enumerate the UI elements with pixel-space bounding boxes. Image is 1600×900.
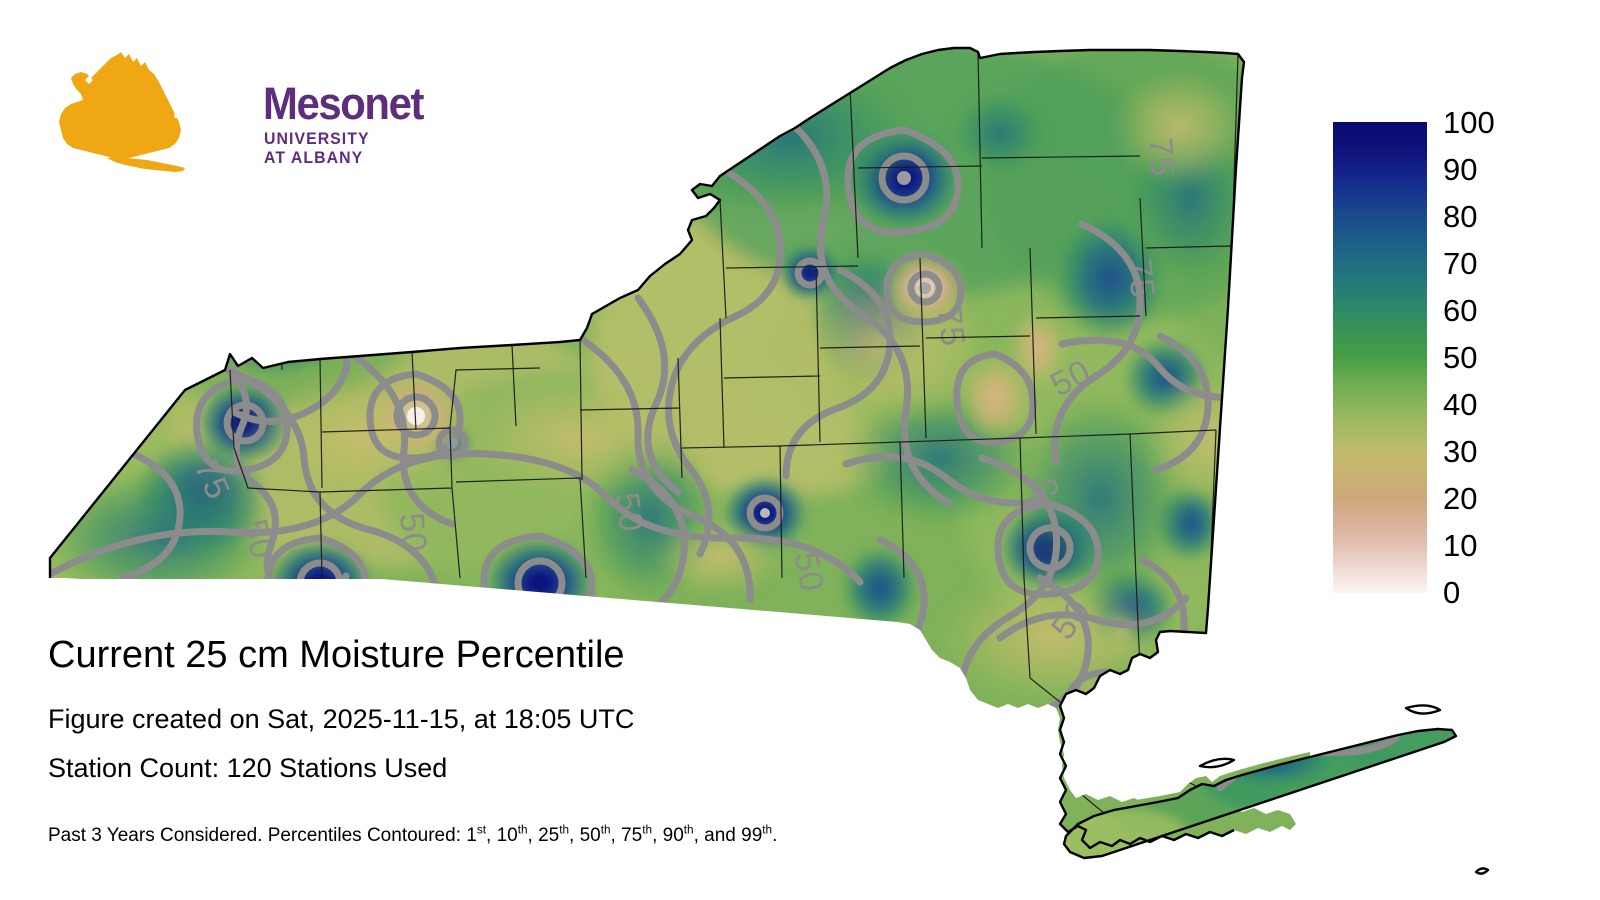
logo-university-text: UNIVERSITY AT ALBANY (264, 130, 395, 168)
footnote-value-99: 99 (741, 825, 762, 846)
colorbar-tick-10: 10 (1443, 530, 1477, 561)
svg-text:50: 50 (392, 511, 434, 555)
logo-divider (254, 78, 259, 124)
logo-mesonet-text: Mesonet (263, 78, 423, 130)
figure-title: Current 25 cm Moisture Percentile (48, 632, 625, 678)
colorbar-tick-80: 80 (1443, 201, 1477, 232)
colorbar-tick-100: 100 (1443, 107, 1495, 138)
footnote-and: and (704, 825, 736, 846)
svg-text:75: 75 (930, 305, 972, 349)
contour-footnote: Past 3 Years Considered. Percentiles Con… (48, 824, 777, 848)
footnote-ord-90: th (684, 824, 694, 837)
footnote-ord-99: th (762, 824, 772, 837)
svg-text:75: 75 (1141, 136, 1182, 178)
colorbar-tick-70: 70 (1443, 248, 1477, 279)
footnote-value-25: 25 (538, 825, 559, 846)
footnote-prefix: Past 3 Years Considered. Percentiles Con… (48, 825, 466, 846)
footnote-ord-1: st (477, 824, 486, 837)
footnote-ord-50: th (601, 824, 611, 837)
colorbar-tick-40: 40 (1443, 389, 1477, 420)
colorbar-tick-labels: 100 90 80 70 60 50 40 30 20 10 0 (1443, 122, 1563, 593)
footnote-value-50: 50 (580, 825, 601, 846)
colorbar-tick-50: 50 (1443, 342, 1477, 373)
svg-text:75: 75 (1120, 257, 1162, 301)
svg-text:50: 50 (787, 549, 831, 595)
footnote-value-75: 75 (621, 825, 642, 846)
colorbar-gradient (1333, 122, 1427, 593)
footnote-value-90: 90 (663, 825, 684, 846)
footnote-suffix: . (772, 825, 777, 846)
colorbar (1333, 122, 1427, 593)
station-count-line: Station Count: 120 Stations Used (48, 752, 447, 785)
footnote-ord-10: th (518, 824, 528, 837)
colorbar-tick-60: 60 (1443, 295, 1477, 326)
colorbar-tick-20: 20 (1443, 483, 1477, 514)
colorbar-tick-30: 30 (1443, 436, 1477, 467)
footnote-value-10: 10 (497, 825, 518, 846)
logo-nys-text: NYS (172, 80, 245, 128)
footnote-ord-75: th (642, 824, 652, 837)
footnote-ord-25: th (559, 824, 569, 837)
colorbar-tick-90: 90 (1443, 154, 1477, 185)
figure-canvas: 75 75 75 75 75 50 50 50 50 50 50 50 75 (0, 0, 1600, 900)
nys-mesonet-logo: NYS Mesonet UNIVERSITY AT ALBANY (55, 52, 400, 172)
colorbar-tick-0: 0 (1443, 577, 1460, 608)
svg-text:50: 50 (607, 490, 650, 535)
figure-created-line: Figure created on Sat, 2025-11-15, at 18… (48, 703, 634, 736)
footnote-value-1: 1 (466, 825, 477, 846)
